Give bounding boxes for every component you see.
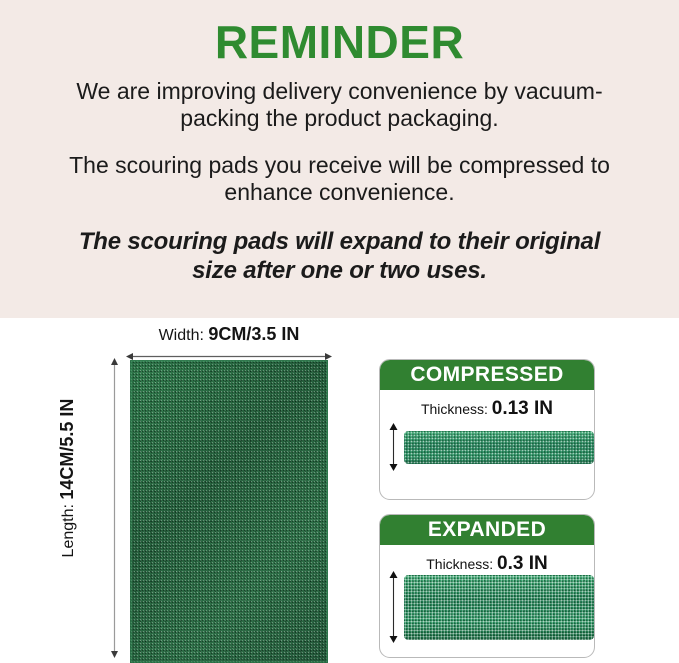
notice-paragraph-1: We are improving delivery convenience by… <box>60 67 620 132</box>
width-dimension-label: Width: 9CM/3.5 IN <box>130 325 328 345</box>
product-dimensions-section: Width: 9CM/3.5 IN Length: 14CM/5.5 IN CO… <box>0 318 679 663</box>
expanded-sponge-image <box>404 575 594 640</box>
infographic-page: REMINDER We are improving delivery conve… <box>0 0 679 663</box>
expanded-thickness-arrow-icon <box>388 571 399 643</box>
length-value-text: 14CM/5.5 IN <box>57 399 77 500</box>
expanded-thickness-value: 0.3 IN <box>497 553 548 574</box>
expanded-panel-body: Thickness: 0.3 IN <box>380 545 594 657</box>
scouring-pad-edge <box>130 360 328 663</box>
compressed-sponge-image <box>404 431 594 464</box>
notice-paragraph-2: The scouring pads you receive will be co… <box>60 132 620 206</box>
expanded-panel: EXPANDED Thickness: 0.3 IN <box>379 514 595 658</box>
compressed-thickness-arrow-icon <box>388 423 399 471</box>
compressed-thickness-label-text: Thickness: <box>421 401 492 417</box>
length-label-text: Length: <box>60 500 77 558</box>
width-value-text: 9CM/3.5 IN <box>208 324 299 344</box>
expanded-thickness-label: Thickness: 0.3 IN <box>380 553 594 575</box>
compressed-panel-heading: COMPRESSED <box>380 360 594 390</box>
expanded-thickness-label-text: Thickness: <box>426 556 497 572</box>
width-label-text: Width: <box>159 327 209 344</box>
scouring-pad-image <box>130 360 328 663</box>
page-title: REMINDER <box>0 0 679 67</box>
compressed-panel-body: Thickness: 0.13 IN <box>380 390 594 499</box>
length-measure-arrow-icon <box>110 358 119 658</box>
notice-paragraph-3: The scouring pads will expand to their o… <box>60 206 620 285</box>
expanded-panel-heading: EXPANDED <box>380 515 594 545</box>
length-dimension-label: Length: 14CM/5.5 IN <box>58 388 78 568</box>
compressed-thickness-label: Thickness: 0.13 IN <box>380 398 594 420</box>
compressed-thickness-value: 0.13 IN <box>492 398 553 419</box>
reminder-notice-section: REMINDER We are improving delivery conve… <box>0 0 679 318</box>
compressed-panel: COMPRESSED Thickness: 0.13 IN <box>379 359 595 500</box>
